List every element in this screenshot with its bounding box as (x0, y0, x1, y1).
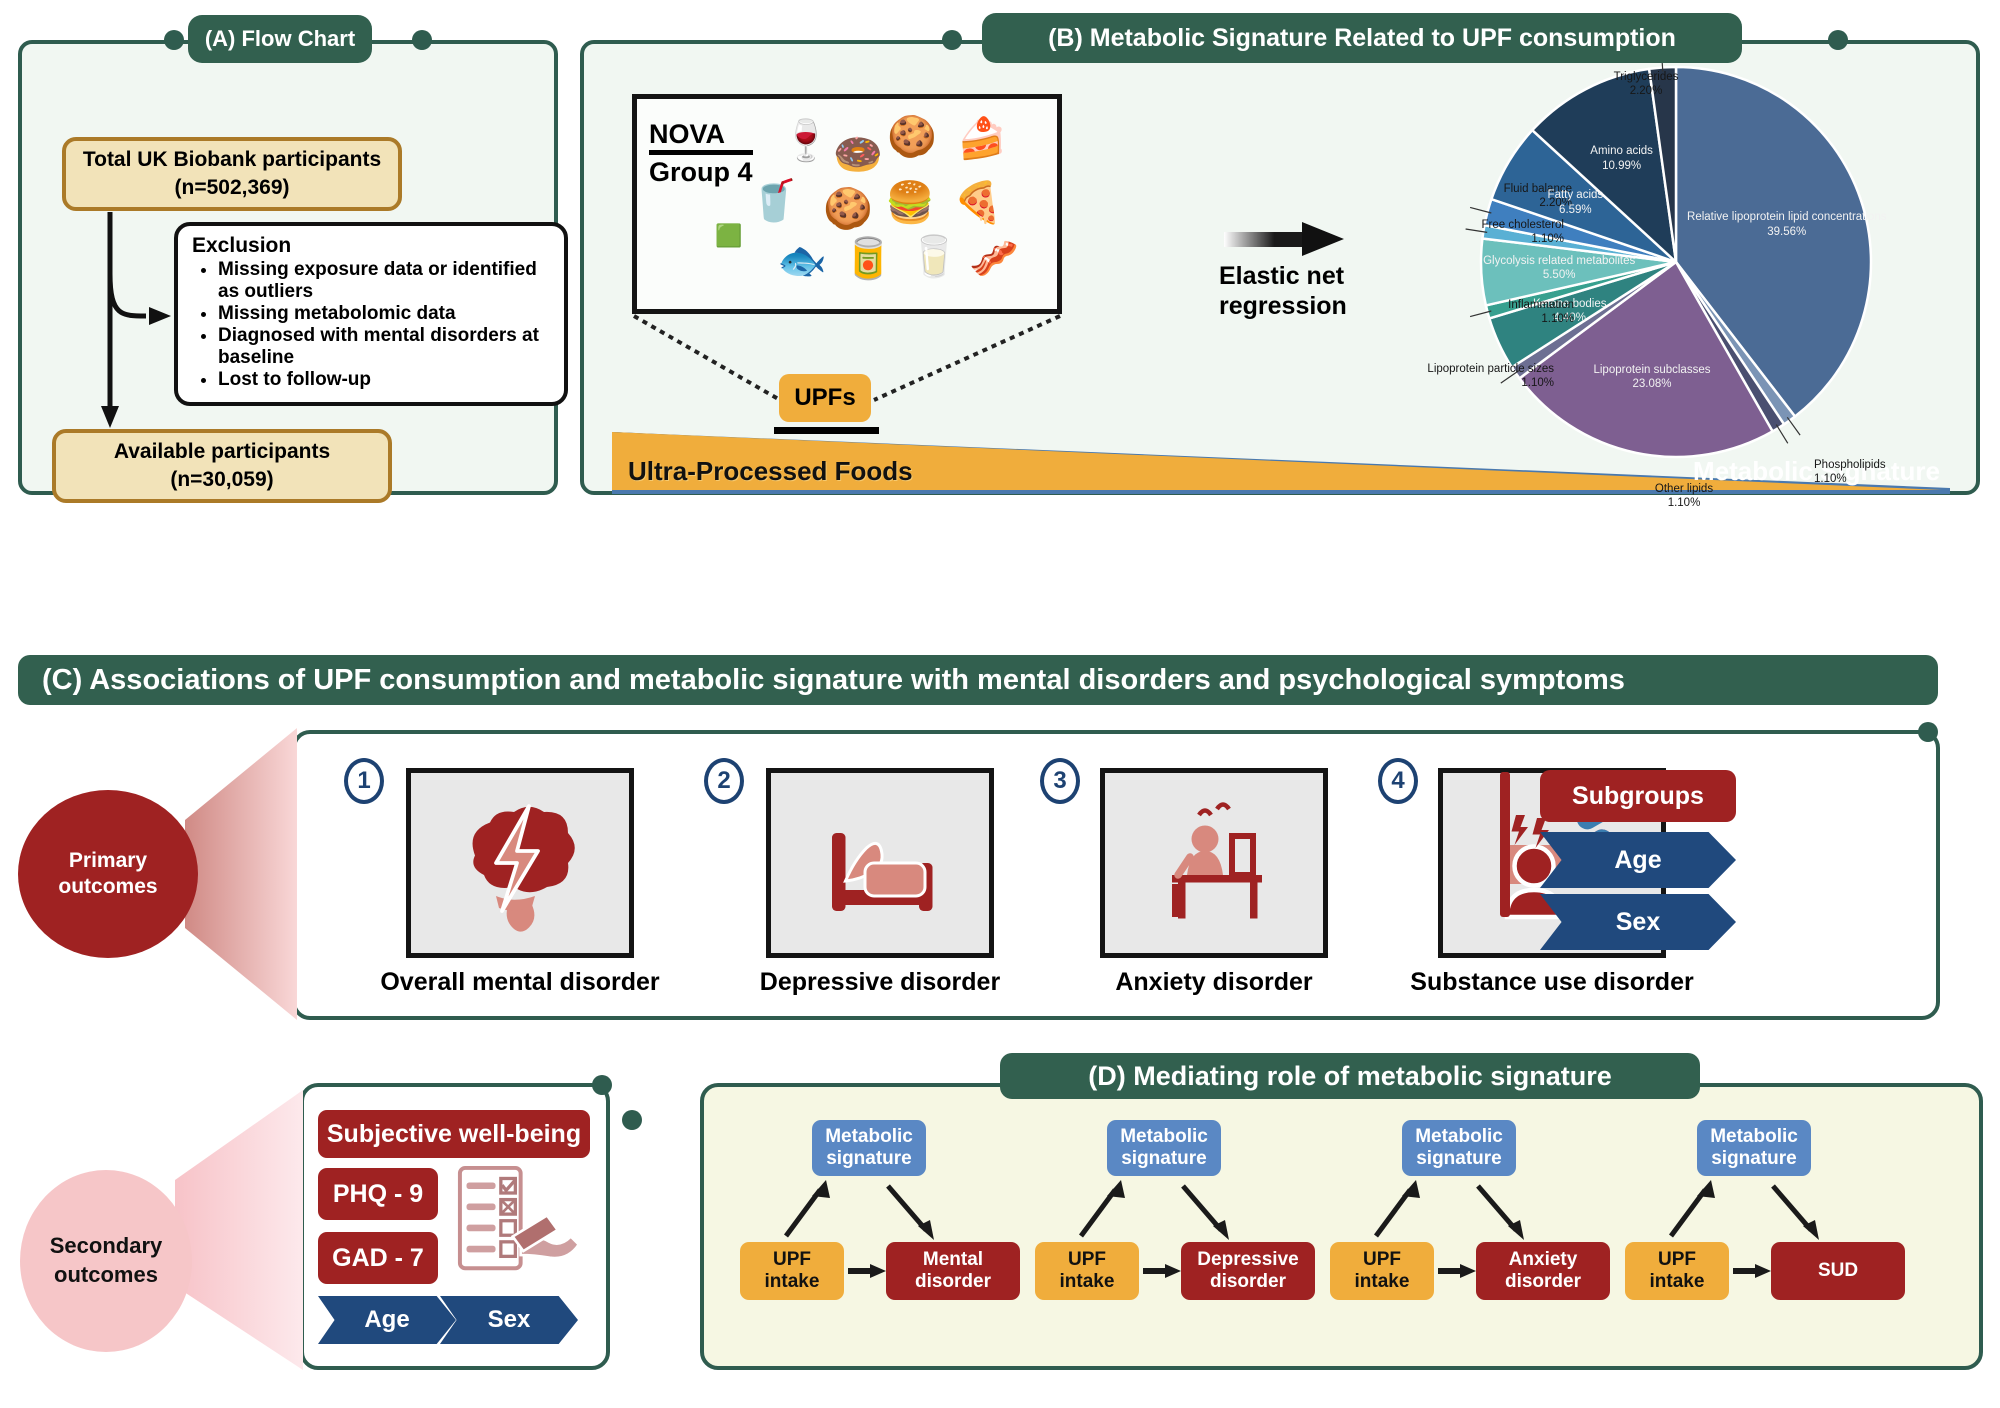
mediation-diagram-1: Metabolic signature UPF intake Mental di… (740, 1120, 1030, 1340)
exposure-line1: UPF (1658, 1249, 1696, 1270)
mediator-node: Metabolic signature (1402, 1120, 1516, 1176)
canned-fish-icon: 🐟 (777, 241, 827, 281)
total-participants-line2: (n=502,369) (175, 174, 290, 202)
outcome-line2: disorder (1210, 1271, 1286, 1292)
outcome-caption-3: Anxiety disorder (1064, 968, 1364, 997)
cookie-icon: 🍪 (823, 189, 873, 229)
mediator-line2: signature (1711, 1148, 1797, 1169)
panel-a-title: (A) Flow Chart (188, 15, 372, 63)
nova-label: NOVA Group 4 (649, 121, 753, 186)
clipboard-checklist-hand-icon (452, 1160, 584, 1292)
panel-b-title: (B) Metabolic Signature Related to UPF c… (982, 13, 1742, 63)
outcome-number-1: 1 (344, 758, 384, 804)
mediator-line2: signature (1416, 1148, 1502, 1169)
pie-slice-label: Lipoprotein subclasses23.08% (1593, 363, 1710, 392)
gingerbread-man-icon: 🍪 (887, 117, 937, 157)
mediator-node: Metabolic signature (1697, 1120, 1811, 1176)
subgroups-divider (1500, 772, 1510, 917)
outcome-node: Mental disorder (886, 1242, 1020, 1300)
outcome-line2: disorder (1505, 1271, 1581, 1292)
subgroup-chevron-sex[interactable]: Sex (1540, 894, 1736, 950)
nova-line1: NOVA (649, 121, 753, 155)
available-participants-line2: (n=30,059) (170, 466, 273, 494)
primary-outcomes-circle: Primary outcomes (18, 790, 198, 958)
outcome-number-4: 4 (1378, 758, 1418, 804)
outcome-card-anxiety-disorder[interactable] (1100, 768, 1328, 958)
exposure-node: UPF intake (1625, 1242, 1729, 1300)
outcome-caption-2: Depressive disorder (730, 968, 1030, 997)
wine-glass-icon: 🍷 (781, 121, 831, 161)
exclusion-item: Diagnosed with mental disorders at basel… (218, 325, 554, 369)
secondary-outcomes-wedge (175, 1090, 303, 1370)
pie-slice-label: Inflammation1.10% (1404, 298, 1574, 327)
ham-icon: 🥓 (969, 239, 1019, 279)
exposure-line1: UPF (773, 1249, 811, 1270)
gad7-tag: GAD - 7 (318, 1232, 438, 1284)
exclusion-list: Missing exposure data or identified as o… (218, 259, 554, 391)
pie-slice-label: Amino acids10.99% (1590, 144, 1653, 173)
primary-outcomes-line1: Primary (58, 848, 157, 874)
pie-slice-label: Fatty acids6.59% (1548, 188, 1604, 217)
title-connector-dot (1828, 30, 1848, 50)
outcome-node: Anxiety disorder (1476, 1242, 1610, 1300)
pie-slice-label: Other lipids1.10% (1655, 482, 1713, 511)
exclusion-item: Missing metabolomic data (218, 303, 554, 325)
exclusion-box: Exclusion Missing exposure data or ident… (174, 222, 568, 406)
panel-d-title: (D) Mediating role of metabolic signatur… (1000, 1053, 1700, 1099)
person-at-desk-stressed-icon (1139, 788, 1289, 938)
person-in-bed-icon (805, 788, 955, 938)
panel-b-metabolic-signature: NOVA Group 4 🍷 🍩 🍪 🍰 🥤 🍪 🍔 🍕 🟩 🐟 🥫 🥛 🥓 E… (580, 40, 1980, 495)
outcome-card-depressive-disorder[interactable] (766, 768, 994, 958)
title-connector-dot (942, 30, 962, 50)
exclusion-item: Missing exposure data or identified as o… (218, 259, 554, 303)
exposure-node: UPF intake (740, 1242, 844, 1300)
burger-icon: 🍔 (885, 183, 935, 223)
mediator-node: Metabolic signature (1107, 1120, 1221, 1176)
subgroup-chevron-age[interactable]: Age (1540, 832, 1736, 888)
outcome-line1: SUD (1818, 1260, 1858, 1281)
nova-line2: Group 4 (649, 155, 753, 186)
exposure-line2: intake (765, 1271, 820, 1292)
secondary-outcomes-circle: Secondary outcomes (20, 1170, 192, 1352)
secondary-chevron-sex[interactable]: Sex (440, 1296, 578, 1344)
outcome-line1: Mental (923, 1249, 983, 1270)
exposure-line2: intake (1355, 1271, 1410, 1292)
canned-pineapple-icon: 🥫 (843, 239, 893, 279)
outcome-number-2: 2 (704, 758, 744, 804)
upfs-tag: UPFs (779, 374, 871, 422)
outcome-caption-4: Substance use disorder (1402, 968, 1702, 997)
milkshake-icon: 🥤 (749, 181, 799, 221)
mediation-diagram-4: Metabolic signature UPF intake SUD (1625, 1120, 1915, 1340)
exposure-node: UPF intake (1330, 1242, 1434, 1300)
mediator-line1: Metabolic (825, 1126, 913, 1147)
exclusion-item: Lost to follow-up (218, 369, 554, 391)
mediator-line1: Metabolic (1710, 1126, 1798, 1147)
donut-icon: 🍩 (833, 135, 883, 175)
brain-lightning-icon (445, 788, 595, 938)
available-participants-box: Available participants (n=30,059) (52, 429, 392, 503)
outcome-number-3: 3 (1040, 758, 1080, 804)
exposure-line2: intake (1060, 1271, 1115, 1292)
panel-c-title: (C) Associations of UPF consumption and … (18, 655, 1938, 705)
pie-leader-line (1787, 417, 1800, 435)
primary-outcomes-line2: outcomes (58, 874, 157, 900)
mediation-diagram-3: Metabolic signature UPF intake Anxiety d… (1330, 1120, 1620, 1340)
outcome-card-overall-mental-disorder[interactable] (406, 768, 634, 958)
exposure-line2: intake (1650, 1271, 1705, 1292)
pie-slice-label: Lipoprotein particle sizes1.10% (1384, 362, 1554, 391)
title-connector-dot (412, 30, 432, 50)
secondary-chevron-age[interactable]: Age (318, 1296, 456, 1344)
nova-group4-box: NOVA Group 4 🍷 🍩 🍪 🍰 🥤 🍪 🍔 🍕 🟩 🐟 🥫 🥛 🥓 (632, 94, 1062, 314)
ultra-processed-foods-label: Ultra-Processed Foods (628, 456, 913, 487)
secondary-connector-dot (622, 1110, 642, 1130)
pie-leader-line (1776, 425, 1788, 444)
panel-c-connector-dot (1918, 722, 1938, 742)
exposure-line1: UPF (1068, 1249, 1106, 1270)
secondary-connector-dot (592, 1075, 612, 1095)
mediator-line1: Metabolic (1415, 1126, 1503, 1147)
primary-outcomes-wedge (185, 728, 297, 1020)
total-participants-line1: Total UK Biobank participants (83, 146, 381, 174)
metabolic-signature-pie-chart: Relative lipoprotein lipid concentration… (1384, 62, 1974, 492)
secondary-outcomes-line2: outcomes (50, 1261, 163, 1290)
candy-icon: 🟩 (715, 225, 742, 247)
pie-svg (1384, 62, 1974, 492)
outcome-node: Depressive disorder (1181, 1242, 1315, 1300)
pie-slice-label: Phospholipids1.10% (1814, 458, 1886, 487)
mediation-diagram-2: Metabolic signature UPF intake Depressiv… (1035, 1120, 1325, 1340)
subgroups-badge: Subgroups (1540, 770, 1736, 822)
milk-carton-icon: 🥛 (909, 237, 959, 277)
method-line1: Elastic net (1219, 262, 1347, 292)
subjective-wellbeing-tag: Subjective well-being (318, 1110, 590, 1158)
total-participants-box: Total UK Biobank participants (n=502,369… (62, 137, 402, 211)
outcome-caption-1: Overall mental disorder (370, 968, 670, 997)
outcome-line2: disorder (915, 1271, 991, 1292)
outcome-line1: Anxiety (1509, 1249, 1578, 1270)
outcome-node: SUD (1771, 1242, 1905, 1300)
exclusion-heading: Exclusion (192, 234, 554, 257)
secondary-outcomes-line1: Secondary (50, 1232, 163, 1261)
panel-a-flow-chart: Total UK Biobank participants (n=502,369… (18, 40, 558, 495)
elastic-net-regression-label: Elastic net regression (1219, 262, 1347, 321)
exposure-line1: UPF (1363, 1249, 1401, 1270)
mediator-node: Metabolic signature (812, 1120, 926, 1176)
pie-slice-label: Triglycerides2.20% (1614, 70, 1679, 99)
mediator-line2: signature (826, 1148, 912, 1169)
pie-slice-label: Fluid balance2.20% (1402, 182, 1572, 211)
pie-slice-label: Relative lipoprotein lipid concentration… (1687, 210, 1886, 239)
pie-slice-label: Glycolysis related metabolites5.50% (1483, 254, 1635, 283)
mediator-line1: Metabolic (1120, 1126, 1208, 1147)
pizza-icon: 🍕 (953, 183, 1003, 223)
available-participants-line1: Available participants (114, 438, 330, 466)
phq9-tag: PHQ - 9 (318, 1168, 438, 1220)
outcome-line1: Depressive (1197, 1249, 1298, 1270)
exposure-node: UPF intake (1035, 1242, 1139, 1300)
pie-slice-label: Free cholesterol1.10% (1394, 218, 1564, 247)
mediator-line2: signature (1121, 1148, 1207, 1169)
elastic-net-arrow-icon (1224, 222, 1344, 256)
cake-slice-icon: 🍰 (957, 119, 1007, 159)
title-connector-dot (164, 30, 184, 50)
method-line2: regression (1219, 292, 1347, 322)
